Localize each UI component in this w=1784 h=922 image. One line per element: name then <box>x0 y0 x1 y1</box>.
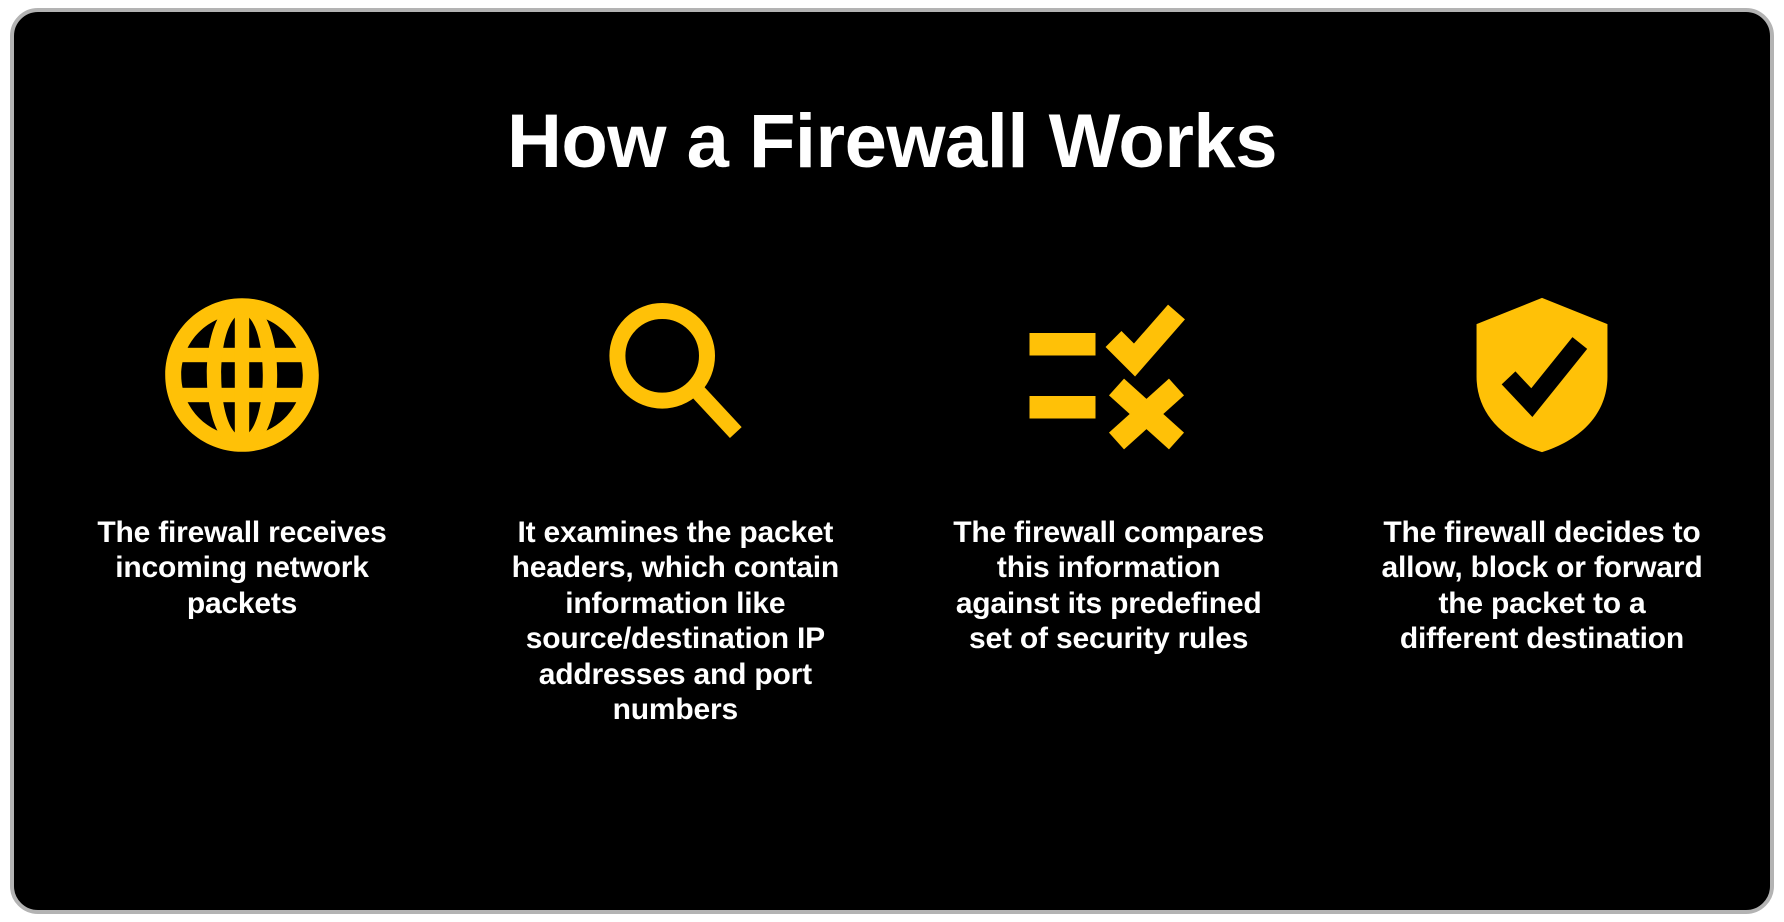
step-caption: It examines the packet headers, which co… <box>503 515 848 727</box>
step-1: The firewall receives incoming network p… <box>42 292 442 621</box>
rules-check-cross-icon <box>1019 292 1199 457</box>
step-caption: The firewall decides to allow, block or … <box>1377 515 1707 657</box>
steps-row: The firewall receives incoming network p… <box>42 292 1742 727</box>
step-caption: The firewall compares this information a… <box>949 515 1269 657</box>
shield-check-icon <box>1452 292 1632 457</box>
step-3: The firewall compares this information a… <box>909 292 1309 657</box>
infographic-card: How a Firewall Works The firewall receiv… <box>10 8 1774 914</box>
step-4: The firewall decides to allow, block or … <box>1342 292 1742 657</box>
step-2: It examines the packet headers, which co… <box>475 292 875 727</box>
magnifier-icon <box>585 292 765 457</box>
step-caption: The firewall receives incoming network p… <box>92 515 392 621</box>
globe-icon <box>152 292 332 457</box>
page-title: How a Firewall Works <box>14 100 1770 184</box>
